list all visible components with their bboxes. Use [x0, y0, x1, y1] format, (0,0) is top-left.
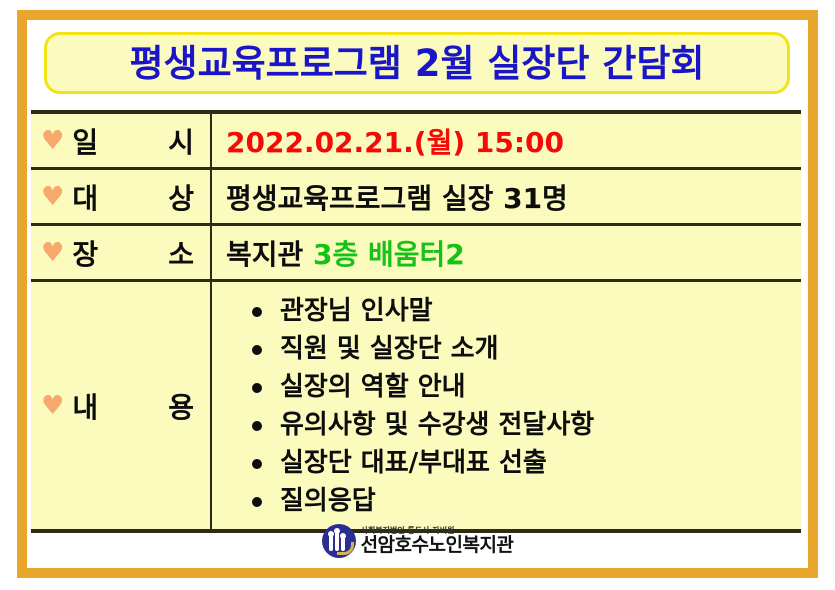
label-char-right: 소 [168, 233, 194, 273]
location-room: 3층 배움터2 [313, 238, 465, 271]
label-text-datetime: 일 시 [72, 121, 194, 161]
value-cell-datetime: 2022.02.21.(월) 15:00 [211, 112, 801, 169]
heart-icon: ♥ [41, 393, 64, 419]
event-info-table: ♥ 일 시 2022.02.21.(월) 15:00 ♥ 대 [31, 110, 801, 533]
label-char-left: 일 [72, 121, 98, 161]
page-title: 평생교육프로그램 2월 실장단 간담회 [130, 45, 705, 82]
label-text-location: 장 소 [72, 233, 194, 273]
label-text-audience: 대 상 [72, 177, 194, 217]
poster-title-banner: 평생교육프로그램 2월 실장단 간담회 [44, 32, 790, 94]
agenda-item: 실장단 대표/부대표 선출 [252, 444, 801, 482]
agenda-item: 유의사항 및 수강생 전달사항 [252, 406, 801, 444]
heart-icon: ♥ [41, 128, 64, 154]
heart-icon: ♥ [41, 184, 64, 210]
label-cell-location: ♥ 장 소 [31, 225, 211, 281]
label-char-left: 내 [72, 386, 98, 426]
label-text-content: 내 용 [72, 386, 194, 426]
label-char-right: 상 [168, 177, 194, 217]
label-cell-content: ♥ 내 용 [31, 281, 211, 532]
logo-text-block: 사회복지법인 통도사 자비원 선암호수노인복지관 [361, 527, 514, 555]
agenda-item: 실장의 역할 안내 [252, 368, 801, 406]
value-cell-audience: 평생교육프로그램 실장 31명 [211, 169, 801, 225]
label-char-left: 대 [72, 177, 98, 217]
label-char-right: 용 [168, 386, 194, 426]
table-row-location: ♥ 장 소 복지관 3층 배움터2 [31, 225, 801, 281]
label-cell-datetime: ♥ 일 시 [31, 112, 211, 169]
agenda-item: 질의응답 [252, 482, 801, 520]
table-row-audience: ♥ 대 상 평생교육프로그램 실장 31명 [31, 169, 801, 225]
logo-organization-name: 선암호수노인복지관 [361, 536, 514, 555]
organization-logo: 사회복지법인 통도사 자비원 선암호수노인복지관 [0, 524, 835, 558]
label-cell-audience: ♥ 대 상 [31, 169, 211, 225]
value-cell-content: 관장님 인사말직원 및 실장단 소개실장의 역할 안내유의사항 및 수강생 전달… [211, 281, 801, 532]
heart-icon: ♥ [41, 240, 64, 266]
table-row-content: ♥ 내 용 관장님 인사말직원 및 실장단 소개실장의 역할 안내유의사항 및 … [31, 281, 801, 532]
label-char-left: 장 [72, 233, 98, 273]
location-building: 복지관 [226, 238, 313, 271]
poster-canvas: 평생교육프로그램 2월 실장단 간담회 ♥ 일 시 2022.02.21.(월)… [0, 0, 835, 590]
value-cell-location: 복지관 3층 배움터2 [211, 225, 801, 281]
label-char-right: 시 [168, 121, 194, 161]
agenda-list: 관장님 인사말직원 및 실장단 소개실장의 역할 안내유의사항 및 수강생 전달… [226, 292, 801, 520]
agenda-item: 직원 및 실장단 소개 [252, 330, 801, 368]
table-row-datetime: ♥ 일 시 2022.02.21.(월) 15:00 [31, 112, 801, 169]
agenda-item: 관장님 인사말 [252, 292, 801, 330]
welfare-center-emblem-icon [322, 524, 356, 558]
